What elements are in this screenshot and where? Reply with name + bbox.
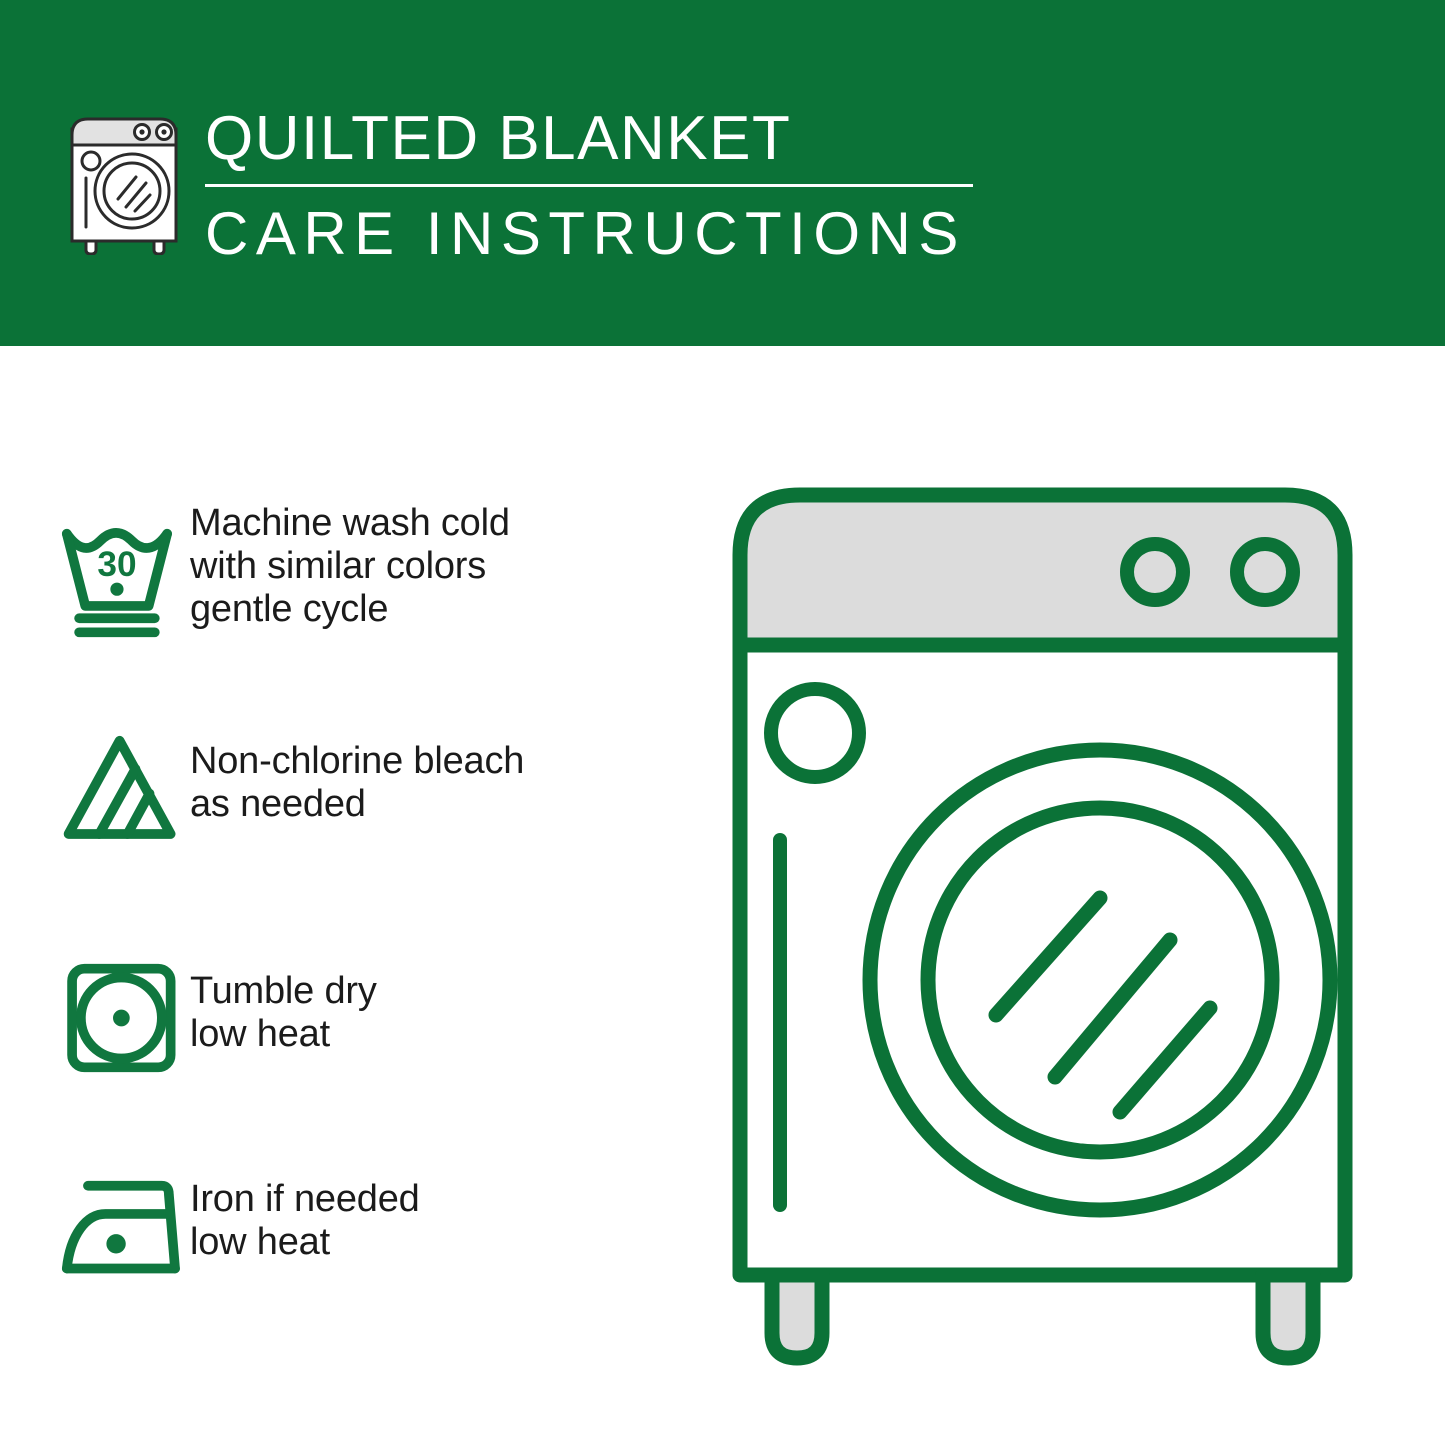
care-instructions-poster: QUILTED BLANKET CARE INSTRUCTIONS 30	[0, 0, 1445, 1445]
list-item: Non-chlorine bleach as needed	[0, 706, 700, 874]
instruction-line: low heat	[190, 1221, 420, 1264]
instruction-line: Iron if needed	[190, 1178, 420, 1221]
small-button	[771, 689, 859, 777]
instructions-list: 30 Machine wash cold with similar colors…	[0, 346, 700, 1445]
non-chlorine-bleach-triangle-icon	[0, 706, 190, 874]
list-item: Tumble dry low heat	[0, 934, 700, 1102]
instruction-text: Iron if needed low heat	[190, 1144, 420, 1264]
leg-right	[1263, 1275, 1313, 1358]
tumble-dry-low-icon	[0, 934, 190, 1102]
header-divider	[205, 184, 973, 187]
instruction-line: low heat	[190, 1013, 377, 1056]
instruction-text: Machine wash cold with similar colors ge…	[190, 492, 510, 631]
list-item: Iron if needed low heat	[0, 1144, 700, 1312]
instruction-line: Tumble dry	[190, 970, 377, 1013]
knob-right	[1237, 544, 1293, 600]
knob-left	[1127, 544, 1183, 600]
page-subtitle: CARE INSTRUCTIONS	[205, 197, 995, 271]
header-band: QUILTED BLANKET CARE INSTRUCTIONS	[0, 0, 1445, 346]
wash-tub-30-gentle-icon: 30	[0, 492, 190, 660]
iron-low-heat-icon	[0, 1144, 190, 1312]
instruction-text: Non-chlorine bleach as needed	[190, 706, 524, 826]
wash-temperature-label: 30	[97, 545, 136, 584]
instruction-line: gentle cycle	[190, 588, 510, 631]
door-inner-ring	[928, 808, 1272, 1152]
washing-machine-illustration	[700, 440, 1445, 1390]
page-title: QUILTED BLANKET	[205, 100, 995, 178]
instruction-line: Machine wash cold	[190, 502, 510, 545]
list-item: 30 Machine wash cold with similar colors…	[0, 492, 700, 660]
instruction-line: as needed	[190, 783, 524, 826]
leg-left	[772, 1275, 822, 1358]
header-text-block: QUILTED BLANKET CARE INSTRUCTIONS	[205, 100, 995, 271]
instruction-line: Non-chlorine bleach	[190, 740, 524, 783]
instruction-line: with similar colors	[190, 545, 510, 588]
instruction-text: Tumble dry low heat	[190, 934, 377, 1056]
washing-machine-icon	[64, 103, 188, 255]
